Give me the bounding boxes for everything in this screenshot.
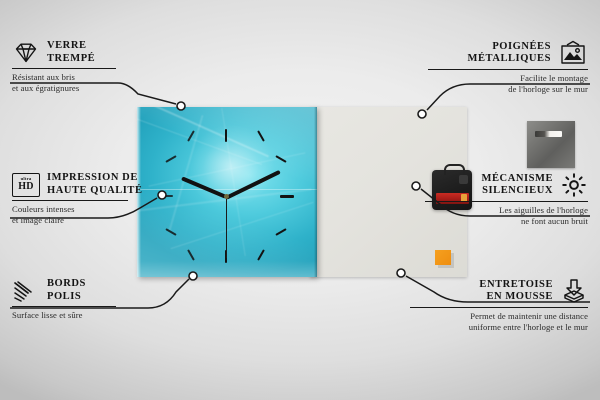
feature-poignees-metalliques: POIGNÉES MÉTALLIQUES Facilite le montage… [418,40,588,95]
feature-desc-2: de l'horloge sur le mur [418,84,588,95]
metal-hanger-plate [527,121,575,168]
hanger-slot [535,131,562,137]
hour-tick [187,249,195,260]
feature-desc-1: Résistant aux bris [12,72,180,83]
glass-bottom-sheen [137,261,317,277]
diamond-icon [12,41,40,65]
feature-title-2: SILENCIEUX [482,185,553,198]
feature-rule [12,200,128,201]
feature-title-2: MÉTALLIQUES [468,53,551,66]
feature-impression-haute-qualite: ultra HD IMPRESSION DE HAUTE QUALITÉ Cou… [12,172,187,226]
picture-hanger-icon [558,40,588,66]
feature-rule [428,69,588,70]
badge-hd-text: HD [18,182,34,192]
hour-tick [280,195,294,198]
feature-title-2: TREMPÉ [47,53,95,66]
foam-spacer-arrow-icon [560,278,588,304]
feature-title: VERRE [47,40,95,53]
hour-tick [225,129,227,142]
hour-tick [165,228,176,236]
feature-title: MÉCANISME [482,173,553,186]
hour-tick [257,249,265,260]
feature-title: IMPRESSION DE [47,172,143,185]
feature-desc-1: Couleurs intenses [12,204,187,215]
feature-rule [410,307,588,308]
feather-plume [166,107,317,242]
gear-icon [560,172,588,198]
feature-rule [12,68,116,69]
feature-desc-1: Les aiguilles de l'horloge [415,205,588,216]
feature-desc-2: et image claire [12,215,187,226]
feature-bords-polis: BORDS POLIS Surface lisse et sûre [12,278,180,321]
feature-desc-2: uniforme entre l'horloge et le mur [400,322,588,333]
feature-desc-2: ne font aucun bruit [415,216,588,227]
clock-hands-hub [224,194,229,199]
ultra-hd-badge-icon: ultra HD [12,173,40,197]
feature-title: BORDS [47,278,86,291]
glass-right-edge [314,107,317,277]
feature-title: ENTRETOISE [479,279,553,292]
feature-rule [12,306,116,307]
feature-desc-1: Permet de maintenir une distance [400,311,588,322]
feature-verre-trempe: VERRE TREMPÉ Résistant aux bris et aux é… [12,40,180,94]
hour-tick [275,228,286,236]
feature-mecanisme-silencieux: MÉCANISME SILENCIEUX Les aiguilles de l'… [415,172,588,227]
second-hand [226,196,228,258]
feature-desc-1: Surface lisse et sûre [12,310,180,321]
feature-desc-1: Facilite le montage [418,73,588,84]
hour-tick [165,155,176,163]
feature-title-2: POLIS [47,291,86,304]
infographic-canvas: VERRE TREMPÉ Résistant aux bris et aux é… [0,0,600,400]
feature-rule [425,201,588,202]
feature-entretoise-en-mousse: ENTRETOISE EN MOUSSE Permet de maintenir… [400,278,588,333]
feature-title-2: HAUTE QUALITÉ [47,185,143,198]
feature-title: POIGNÉES [468,41,551,54]
polished-edges-icon [12,280,40,302]
feature-title-2: EN MOUSSE [479,291,553,304]
feature-desc-2: et aux égratignures [12,83,180,94]
foam-spacer [435,250,451,265]
